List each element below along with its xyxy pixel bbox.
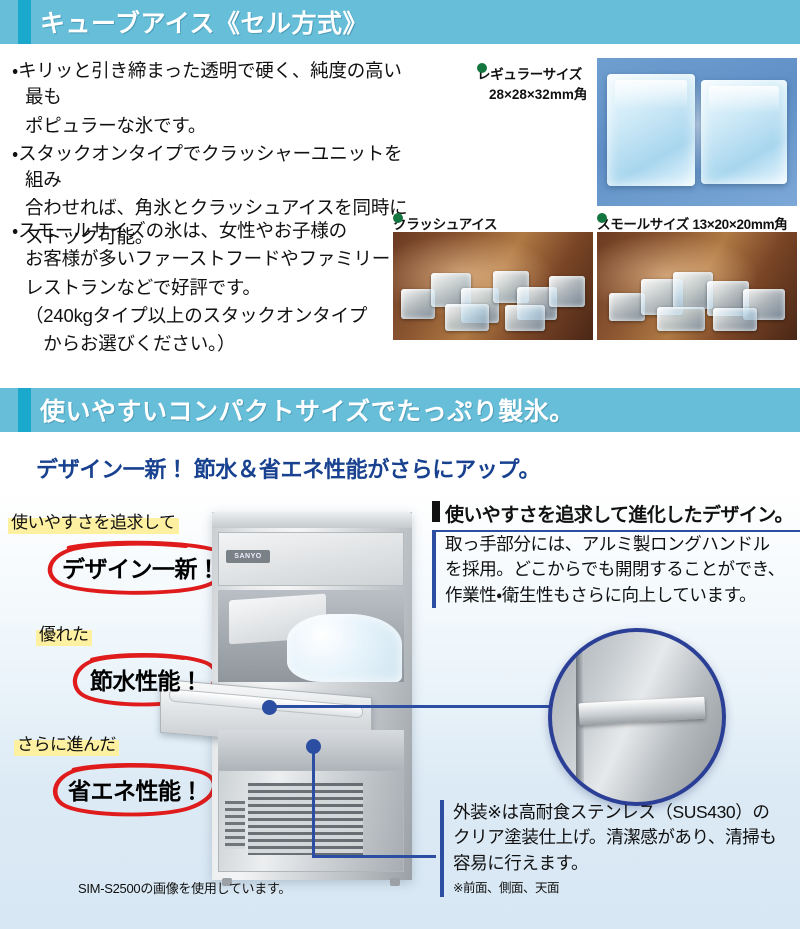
photo-label-crushed-ice: クラッシュアイス bbox=[393, 213, 497, 233]
body-line: 取っ手部分には、アルミ製ロングハンドル bbox=[445, 534, 770, 554]
right-heading-design: 使いやすさを追求して進化したデザイン。 bbox=[432, 500, 800, 532]
machine-brand-logo: SANYO bbox=[226, 550, 270, 563]
machine-logo-text: SANYO bbox=[226, 550, 270, 563]
leader-line-exterior-horizontal bbox=[312, 855, 436, 858]
callout-kicker: さらに進んだ bbox=[14, 730, 119, 756]
section-title-2: 使いやすいコンパクトサイズでたっぷり製氷。 bbox=[40, 392, 575, 428]
inset-aluminum-handle bbox=[579, 697, 706, 726]
green-bullet-icon bbox=[597, 213, 607, 223]
callout-circled-text-wrap: デザイン一新！ bbox=[42, 540, 240, 595]
photo-label-small-size: スモールサイズ 13×20×20mm角 bbox=[597, 213, 787, 233]
callout-kicker: 優れた bbox=[36, 620, 92, 646]
bullet-line: レストランなどで好評です。 bbox=[12, 275, 412, 301]
bullet-line: お客様が多いファーストフードやファミリー bbox=[12, 246, 412, 272]
bullet-line: からお選びください。） bbox=[12, 331, 412, 357]
machine-ice-pile bbox=[287, 614, 402, 682]
callout-energy-saving: さらに進んだ 省エネ性能！ bbox=[14, 730, 223, 817]
right-body-exterior: 外装※は高耐食ステンレス（SUS430）の クリア塗装仕上げ。清潔感があり、清掃… bbox=[440, 800, 800, 897]
image-caption: SIM-S2500の画像を使用しています。 bbox=[78, 878, 291, 897]
photo-crushed-ice bbox=[393, 232, 593, 340]
body-line: を採用。どこからでも開閉することができ、 bbox=[445, 559, 785, 579]
bullet-line: ・キリッと引き締まった透明で硬く、純度の高い最も bbox=[12, 58, 412, 111]
callout-circled-text-wrap: 省エネ性能！ bbox=[48, 762, 223, 817]
body-line: クリア塗装仕上げ。清潔感があり、清掃も bbox=[453, 827, 776, 847]
leader-line-exterior-vertical bbox=[312, 746, 315, 857]
green-bullet-icon bbox=[477, 63, 487, 73]
photo-small-size-ice bbox=[597, 232, 797, 340]
bullet-line: ・スタックオンタイプでクラッシャーユニットを組み bbox=[12, 141, 412, 194]
photo-regular-size-ice bbox=[597, 58, 797, 206]
right-heading-text: 使いやすさを追求して進化したデザイン。 bbox=[445, 505, 793, 526]
section-header-band-1: キューブアイス《セル方式》 bbox=[0, 0, 800, 44]
bullet-line: ポピュラーな氷です。 bbox=[12, 113, 412, 139]
bullet-line: ・スモールサイズの氷は、女性やお子様の bbox=[12, 218, 412, 244]
machine-top-panel bbox=[212, 512, 412, 528]
bullet-line: （240kgタイプ以上のスタックオンタイプ bbox=[12, 303, 412, 329]
heading-marker-bar bbox=[432, 501, 440, 522]
callout-water-saving: 優れた 節水性能！ bbox=[36, 620, 223, 707]
body-line: 外装※は高耐食ステンレス（SUS430）の bbox=[453, 802, 769, 822]
machine-foot bbox=[390, 878, 400, 886]
section-title-1: キューブアイス《セル方式》 bbox=[40, 4, 368, 40]
section-header-band-2: 使いやすいコンパクトサイズでたっぷり製氷。 bbox=[0, 388, 800, 432]
callout-design-renewal: 使いやすさを追求して デザイン一新！ bbox=[8, 508, 240, 595]
machine-side-vent bbox=[225, 801, 245, 849]
detail-inset-handle-closeup bbox=[548, 628, 726, 806]
green-bullet-icon bbox=[393, 213, 403, 223]
band-accent-bar-2 bbox=[18, 388, 31, 432]
machine-ice-bin bbox=[218, 590, 404, 682]
right-body-design: 取っ手部分には、アルミ製ロングハンドル を採用。どこからでも開閉することができ、… bbox=[432, 532, 800, 608]
band-accent-bar-1 bbox=[18, 0, 31, 44]
callout-circled-text: 省エネ性能！ bbox=[68, 778, 203, 804]
section-subtitle: デザイン一新！ 節水＆省エネ性能がさらにアップ。 bbox=[36, 452, 540, 484]
callout-circled-text: デザイン一新！ bbox=[62, 556, 220, 582]
photo-label-text: クラッシュアイス bbox=[393, 217, 497, 232]
photo-label-regular-size: レギュラーサイズ 28×28×32mm角 bbox=[477, 63, 587, 103]
machine-front-vent bbox=[248, 783, 362, 855]
footnote-text: ※前面、側面、天面 bbox=[453, 879, 800, 897]
feature-bullets-2: ・スモールサイズの氷は、女性やお子様の お客様が多いファーストフードやファミリー… bbox=[12, 218, 412, 359]
body-line: 作業性・衛生性もさらに向上しています。 bbox=[445, 585, 756, 605]
body-line: 容易に行えます。 bbox=[453, 853, 588, 873]
photo-label-text: レギュラーサイズ bbox=[477, 67, 582, 82]
callout-kicker: 使いやすさを追求して bbox=[8, 508, 179, 534]
callout-circled-text: 節水性能！ bbox=[90, 668, 203, 694]
photo-label-text: スモールサイズ 13×20×20mm角 bbox=[597, 217, 787, 232]
photo-sublabel-text: 28×28×32mm角 bbox=[477, 83, 587, 103]
